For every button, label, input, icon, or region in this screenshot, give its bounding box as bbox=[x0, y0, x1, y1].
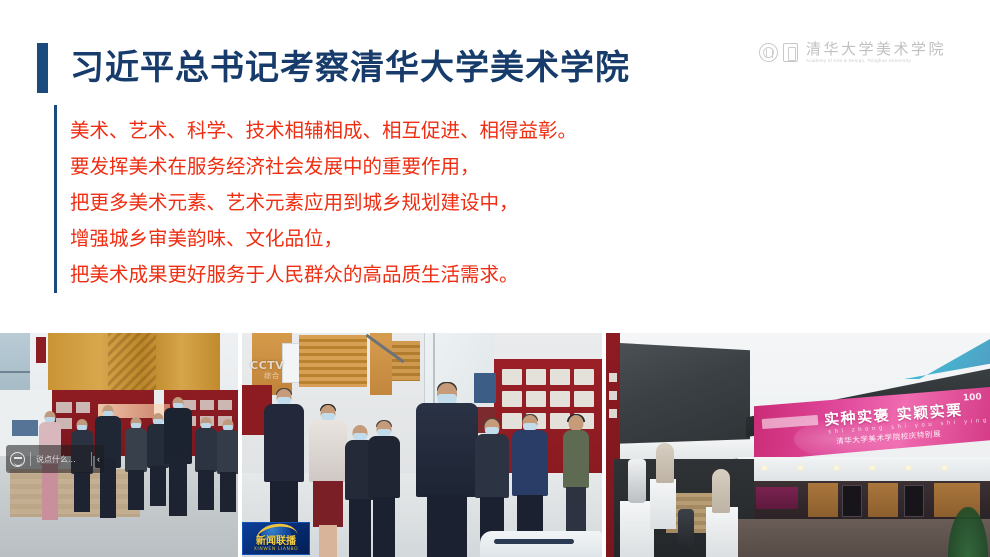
photo2-person-legs bbox=[427, 495, 467, 557]
photo2-person-body bbox=[416, 403, 478, 497]
cctv-watermark-sub: 综合 bbox=[264, 371, 280, 381]
quote-block: 美术、艺术、科学、技术相辅相成、相互促进、相得益彰。 要发挥美术在服务经济社会发… bbox=[70, 113, 630, 293]
quote-line: 美术、艺术、科学、技术相辅相成、相互促进、相得益彰。 bbox=[70, 113, 630, 149]
photo3-pedestal bbox=[706, 507, 738, 557]
photo2-board-card bbox=[574, 391, 594, 407]
photo2-board-card bbox=[502, 391, 522, 407]
photo2-board-card bbox=[550, 391, 570, 407]
photo2-person-body bbox=[368, 436, 400, 498]
photo2-person-body bbox=[475, 434, 509, 498]
photo1-person-body bbox=[125, 428, 147, 472]
comment-input-placeholder[interactable]: 说点什么... bbox=[36, 454, 86, 465]
photo2-window-frame bbox=[282, 343, 300, 383]
photo2-board-card bbox=[502, 369, 522, 385]
photo1-exhibit-tile bbox=[76, 402, 90, 413]
photo3-potted-plant bbox=[948, 507, 988, 557]
photo1-exhibit-photo bbox=[12, 420, 38, 436]
ceiling-light-icon bbox=[798, 466, 803, 470]
photo2-person-body bbox=[264, 404, 304, 482]
photo3-doorway bbox=[904, 485, 924, 517]
photo2-person-mask bbox=[321, 413, 335, 420]
ceiling-light-icon bbox=[942, 466, 947, 470]
photo1-wood-ceiling bbox=[48, 333, 220, 391]
page-title: 习近平总书记考察清华大学美术学院 bbox=[70, 44, 630, 92]
photo3-entrance-soffit bbox=[738, 457, 990, 483]
photo2-person-mask bbox=[523, 423, 537, 430]
photo-academy-entrance-banner[interactable]: 实种实褒 实颖实栗 shi zhong shi you shi ying shi… bbox=[606, 333, 990, 557]
photo1-exhibit-tile bbox=[218, 400, 232, 410]
photo3-bust-sculpture bbox=[712, 469, 730, 513]
photo1-person-body bbox=[195, 428, 217, 472]
photo3-pedestal bbox=[620, 501, 654, 557]
photo2-person-mask bbox=[353, 433, 367, 440]
photo1-person-legs bbox=[198, 470, 214, 510]
photo1-exhibit-tile bbox=[200, 400, 214, 410]
photo2-wood-louver bbox=[299, 335, 367, 387]
photo2-exhibit-vehicle bbox=[480, 531, 602, 557]
photo2-person-mask bbox=[377, 429, 391, 436]
photo3-doorway bbox=[842, 485, 862, 517]
quote-line: 把美术成果更好服务于人民群众的高品质生活需求。 bbox=[70, 257, 630, 293]
quote-line: 要发挥美术在服务经济社会发展中的重要作用， bbox=[70, 149, 630, 185]
photo3-wood-wall bbox=[808, 483, 838, 517]
photo2-person-body bbox=[512, 430, 548, 496]
photo2-person-body bbox=[309, 420, 347, 482]
photo3-wall-tile bbox=[609, 409, 617, 418]
photo1-person-legs bbox=[128, 470, 144, 510]
photo1-red-beam bbox=[36, 337, 46, 363]
ceiling-light-icon bbox=[834, 466, 839, 470]
photo3-pedestal bbox=[650, 479, 676, 529]
photo2-board-card bbox=[574, 369, 594, 385]
photo2-person-legs bbox=[349, 499, 371, 557]
institution-logo: 清华大学美术学院 Academy of Arts & Design, Tsing… bbox=[759, 41, 946, 64]
photo2-person-head bbox=[569, 415, 584, 431]
photo2-board-card bbox=[550, 369, 570, 385]
slide-root: 习近平总书记考察清华大学美术学院 清华大学美术学院 Academy of Art… bbox=[0, 0, 990, 557]
photo2-board-card bbox=[526, 391, 546, 407]
photo1-person-legs bbox=[220, 472, 236, 512]
photo3-lobby-display bbox=[756, 487, 798, 509]
photo2-board-photo bbox=[474, 373, 496, 403]
news-program-badge: 新闻联播 XINWEN LIANBO bbox=[242, 522, 310, 555]
photo-strip: 说点什么... ‹ bbox=[0, 333, 990, 557]
photo2-person-legs bbox=[313, 481, 343, 527]
divider bbox=[91, 452, 92, 466]
chevron-left-icon[interactable]: ‹ bbox=[97, 455, 100, 464]
photo3-wood-wall bbox=[868, 483, 898, 517]
quote-line: 把更多美术元素、艺术元素应用到城乡规划建设中， bbox=[70, 185, 630, 221]
title-accent-bar bbox=[37, 43, 48, 93]
news-badge-title-en: XINWEN LIANBO bbox=[243, 547, 309, 552]
divider bbox=[30, 452, 31, 466]
logo-name-cn: 清华大学美术学院 bbox=[806, 41, 946, 57]
quote-line: 增强城乡审美韵味、文化品位， bbox=[70, 221, 630, 257]
photo1-person-body bbox=[217, 430, 238, 474]
photo-cctv-news-broadcast[interactable]: CCTV 综合 新闻联播 XINWEN LIANBO bbox=[242, 333, 602, 557]
comment-input-bar[interactable]: 说点什么... ‹ bbox=[6, 445, 104, 473]
ceiling-light-icon bbox=[906, 466, 911, 470]
photo1-person-legs bbox=[150, 466, 166, 506]
photo2-wood-louver bbox=[392, 341, 420, 381]
photo2-person-body bbox=[563, 430, 589, 488]
ceiling-light-icon bbox=[762, 466, 767, 470]
photo2-person-mask bbox=[277, 397, 291, 404]
photo2-board-card bbox=[502, 413, 522, 429]
tsinghua-seal-icon bbox=[759, 43, 778, 62]
photo1-person-legs bbox=[169, 450, 187, 516]
photo2-person-mask bbox=[485, 427, 499, 434]
photo3-robot-sculpture bbox=[628, 459, 646, 503]
banner-anniversary-mark: 100 bbox=[963, 392, 982, 403]
photo2-board-card bbox=[526, 369, 546, 385]
body-accent-bar bbox=[54, 105, 57, 293]
smiley-face-icon[interactable] bbox=[10, 452, 25, 467]
photo3-robot-sculpture bbox=[678, 509, 694, 551]
tsinghua-box-seal-icon bbox=[783, 43, 798, 62]
logo-name-en: Academy of Arts & Design, Tsinghua Unive… bbox=[806, 57, 949, 64]
photo3-wall-tile bbox=[609, 373, 617, 382]
photo1-person-legs bbox=[74, 472, 90, 512]
photo3-bust-sculpture bbox=[656, 443, 674, 483]
photo3-wall-tile bbox=[609, 391, 617, 400]
ceiling-light-icon bbox=[870, 466, 875, 470]
photo2-person-legs bbox=[373, 497, 395, 557]
photo2-person-legs bbox=[319, 525, 337, 557]
photo1-exhibit-tile bbox=[56, 402, 72, 413]
photo-atrium-delegation[interactable]: 说点什么... ‹ bbox=[0, 333, 238, 557]
logo-wordmark: 清华大学美术学院 Academy of Arts & Design, Tsing… bbox=[806, 41, 946, 64]
